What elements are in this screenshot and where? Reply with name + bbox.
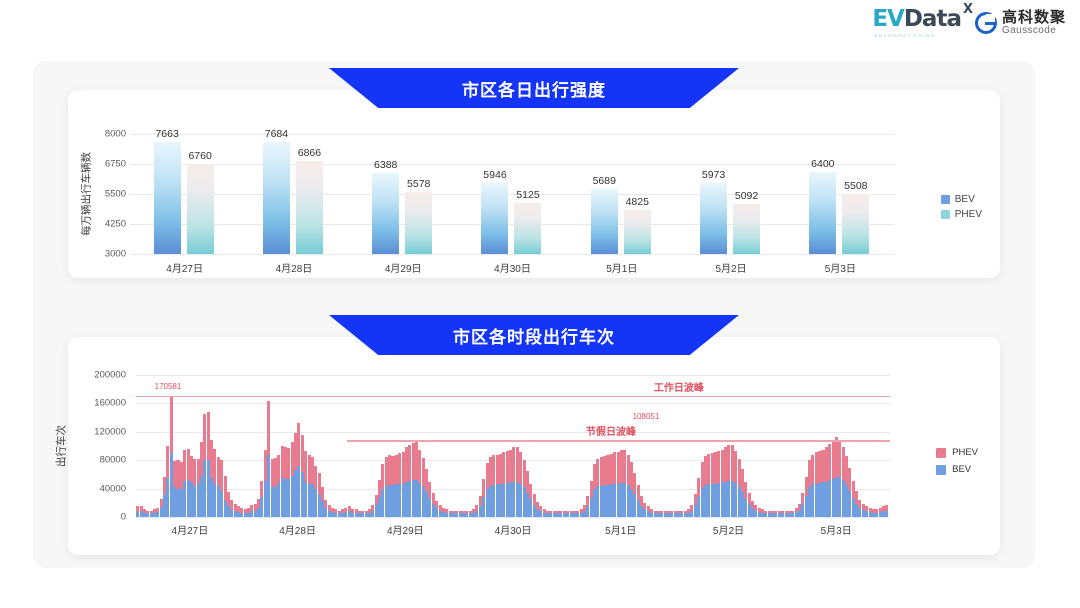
chart-1-y-tick: 6750 (105, 159, 126, 170)
chart-2-legend-swatch (936, 448, 946, 458)
chart-1-bar-phev: 5578 (405, 192, 432, 254)
chart-2-peak-value: 170581 (155, 382, 182, 391)
chart-1-bar-value: 5125 (516, 189, 539, 201)
chart-1-legend: BEVPHEV (941, 194, 982, 220)
chart-1-bar-value: 6866 (298, 147, 321, 159)
chart-1-x-label: 5月3日 (786, 260, 895, 275)
chart-2-bar-segment-bev (885, 511, 888, 517)
chart-1-bar-bev: 5689 (591, 189, 618, 254)
chart-1-bar-group: 56894825 (567, 134, 676, 254)
chart-1-bar-group: 76846866 (239, 134, 348, 254)
chart-1-bar-value: 5578 (407, 178, 430, 190)
chart-2-x-axis-labels: 4月27日4月28日4月29日4月30日5月1日5月2日5月3日 (136, 522, 890, 537)
chart-1-legend-item-phev[interactable]: PHEV (941, 209, 982, 220)
chart-1-bar-value: 5946 (483, 169, 506, 181)
gausscode-en-name: Gausscode (1002, 26, 1066, 37)
chart-2-y-tick: 0 (121, 512, 126, 523)
chart-2-annotation-line (347, 440, 890, 441)
chart-1-bar-phev: 5508 (842, 194, 869, 254)
chart-2-y-tick: 80000 (100, 455, 126, 466)
chart-1-y-tick: 4250 (105, 219, 126, 230)
chart-2-y-axis-label: 出行车次 (54, 425, 69, 467)
chart-1-x-label: 4月30日 (458, 260, 567, 275)
gausscode-cn-name: 高科数聚 (1002, 10, 1066, 26)
section-1-banner: 市区各日出行强度 (329, 68, 739, 108)
evdata-logo: EVDataX SHANGHAI CHINA (872, 8, 961, 38)
chart-1-legend-swatch (941, 210, 950, 219)
chart-1-bar-bev: 6400 (809, 172, 836, 254)
chart-1-x-label: 5月2日 (676, 260, 785, 275)
chart-1-x-label: 4月27日 (130, 260, 239, 275)
chart-1-card: 每万辆出行车辆数 30004250550067508000 7663676076… (68, 90, 1000, 278)
chart-2-legend-label: PHEV (952, 447, 978, 458)
gausscode-logo: 高科数聚 Gausscode (975, 10, 1066, 36)
chart-1-x-label: 5月1日 (567, 260, 676, 275)
chart-2-x-label: 5月1日 (567, 522, 675, 537)
chart-1-legend-item-bev[interactable]: BEV (941, 194, 982, 205)
chart-2-y-tick: 160000 (94, 398, 126, 409)
chart-2-annotation-label: 节假日波峰 (586, 423, 636, 438)
chart-1-y-tick: 5500 (105, 189, 126, 200)
chart-1-bar-phev: 6866 (296, 161, 323, 254)
evdata-wordmark: EVDataX (872, 8, 961, 31)
chart-2-peak-value: 108051 (633, 412, 660, 421)
evdata-x-mark: X (963, 3, 972, 16)
chart-1-bar-phev: 5092 (733, 204, 760, 254)
chart-2-x-label: 4月27日 (136, 522, 244, 537)
chart-1-bar-groups: 7663676076846866638855785946512556894825… (130, 134, 895, 254)
chart-2-legend: PHEVBEV (936, 447, 978, 475)
chart-2-x-label: 4月30日 (459, 522, 567, 537)
chart-1-bar-value: 7684 (265, 128, 288, 140)
chart-1-y-tick: 8000 (105, 129, 126, 140)
chart-2-x-label: 4月29日 (351, 522, 459, 537)
chart-1-legend-swatch (941, 195, 950, 204)
chart-1-bar-group: 63885578 (349, 134, 458, 254)
chart-1-bar-value: 7663 (155, 128, 178, 140)
evdata-ev-text: EV (872, 6, 904, 32)
chart-1-bar-group: 76636760 (130, 134, 239, 254)
chart-1-bar-phev: 5125 (514, 203, 541, 254)
chart-1-grid-line (130, 254, 895, 255)
chart-1-bar-value: 6760 (188, 150, 211, 162)
chart-2-y-tick: 200000 (94, 370, 126, 381)
chart-1-y-tick: 3000 (105, 249, 126, 260)
chart-1-y-axis: 30004250550067508000 (84, 134, 130, 254)
chart-1-bar-value: 5973 (702, 169, 725, 181)
chart-1-bar-value: 5689 (593, 175, 616, 187)
chart-1-plot: 每万辆出行车辆数 30004250550067508000 7663676076… (130, 134, 895, 254)
chart-2-plot: 出行车次 04000080000120000160000200000 工作日波峰… (136, 375, 890, 517)
chart-1-bar-group: 59465125 (458, 134, 567, 254)
chart-1-x-label: 4月29日 (349, 260, 458, 275)
chart-2-x-label: 5月2日 (675, 522, 783, 537)
chart-2-legend-swatch (936, 465, 946, 475)
chart-2-card: 出行车次 04000080000120000160000200000 工作日波峰… (68, 337, 1000, 555)
gausscode-text: 高科数聚 Gausscode (1002, 10, 1066, 36)
chart-2-x-label: 4月28日 (244, 522, 352, 537)
chart-2-y-axis: 04000080000120000160000200000 (84, 375, 130, 517)
chart-2-annotation-label: 工作日波峰 (654, 379, 704, 394)
evdata-tagline: SHANGHAI CHINA (874, 33, 935, 38)
chart-1-bar-group: 59735092 (676, 134, 785, 254)
chart-1-legend-label: PHEV (955, 209, 982, 220)
chart-1-bar-bev: 7663 (154, 142, 181, 254)
chart-1-bar-bev: 6388 (372, 173, 399, 254)
chart-1-bar-value: 5092 (735, 190, 758, 202)
chart-1-bar-phev: 4825 (624, 210, 651, 254)
chart-1-bar-bev: 7684 (263, 142, 290, 254)
chart-1-x-axis-labels: 4月27日4月28日4月29日4月30日5月1日5月2日5月3日 (130, 260, 895, 275)
chart-1-bar-value: 4825 (626, 196, 649, 208)
evdata-data-text: Data (904, 6, 961, 32)
chart-1-x-label: 4月28日 (239, 260, 348, 275)
section-hourly-trip-counts: 市区各时段出行车次 出行车次 0400008000012000016000020… (68, 315, 1000, 555)
chart-1-legend-label: BEV (955, 194, 975, 205)
chart-2-annotation-line (136, 396, 890, 397)
chart-1-bar-group: 64005508 (786, 134, 895, 254)
brand-logo-bar: EVDataX SHANGHAI CHINA 高科数聚 Gausscode (872, 8, 1066, 38)
chart-1-bar-bev: 5946 (481, 183, 508, 254)
section-2-banner: 市区各时段出行车次 (329, 315, 739, 355)
chart-2-legend-item-bev[interactable]: BEV (936, 464, 978, 475)
chart-2-x-label: 5月3日 (782, 522, 890, 537)
chart-2-legend-item-phev[interactable]: PHEV (936, 447, 978, 458)
chart-1-bar-phev: 6760 (187, 164, 214, 254)
section-daily-travel-intensity: 市区各日出行强度 每万辆出行车辆数 30004250550067508000 7… (68, 68, 1000, 278)
gausscode-mark-icon (975, 12, 997, 34)
chart-1-bar-value: 6400 (811, 158, 834, 170)
chart-2-grid-line (136, 517, 890, 518)
chart-2-y-tick: 120000 (94, 426, 126, 437)
chart-1-bar-bev: 5973 (700, 183, 727, 254)
chart-2-y-tick: 40000 (100, 483, 126, 494)
section-2-title: 市区各时段出行车次 (453, 323, 615, 348)
chart-2-legend-label: BEV (952, 464, 971, 475)
chart-1-bar-value: 6388 (374, 159, 397, 171)
section-1-title: 市区各日出行强度 (462, 76, 606, 101)
chart-1-bar-value: 5508 (844, 180, 867, 192)
